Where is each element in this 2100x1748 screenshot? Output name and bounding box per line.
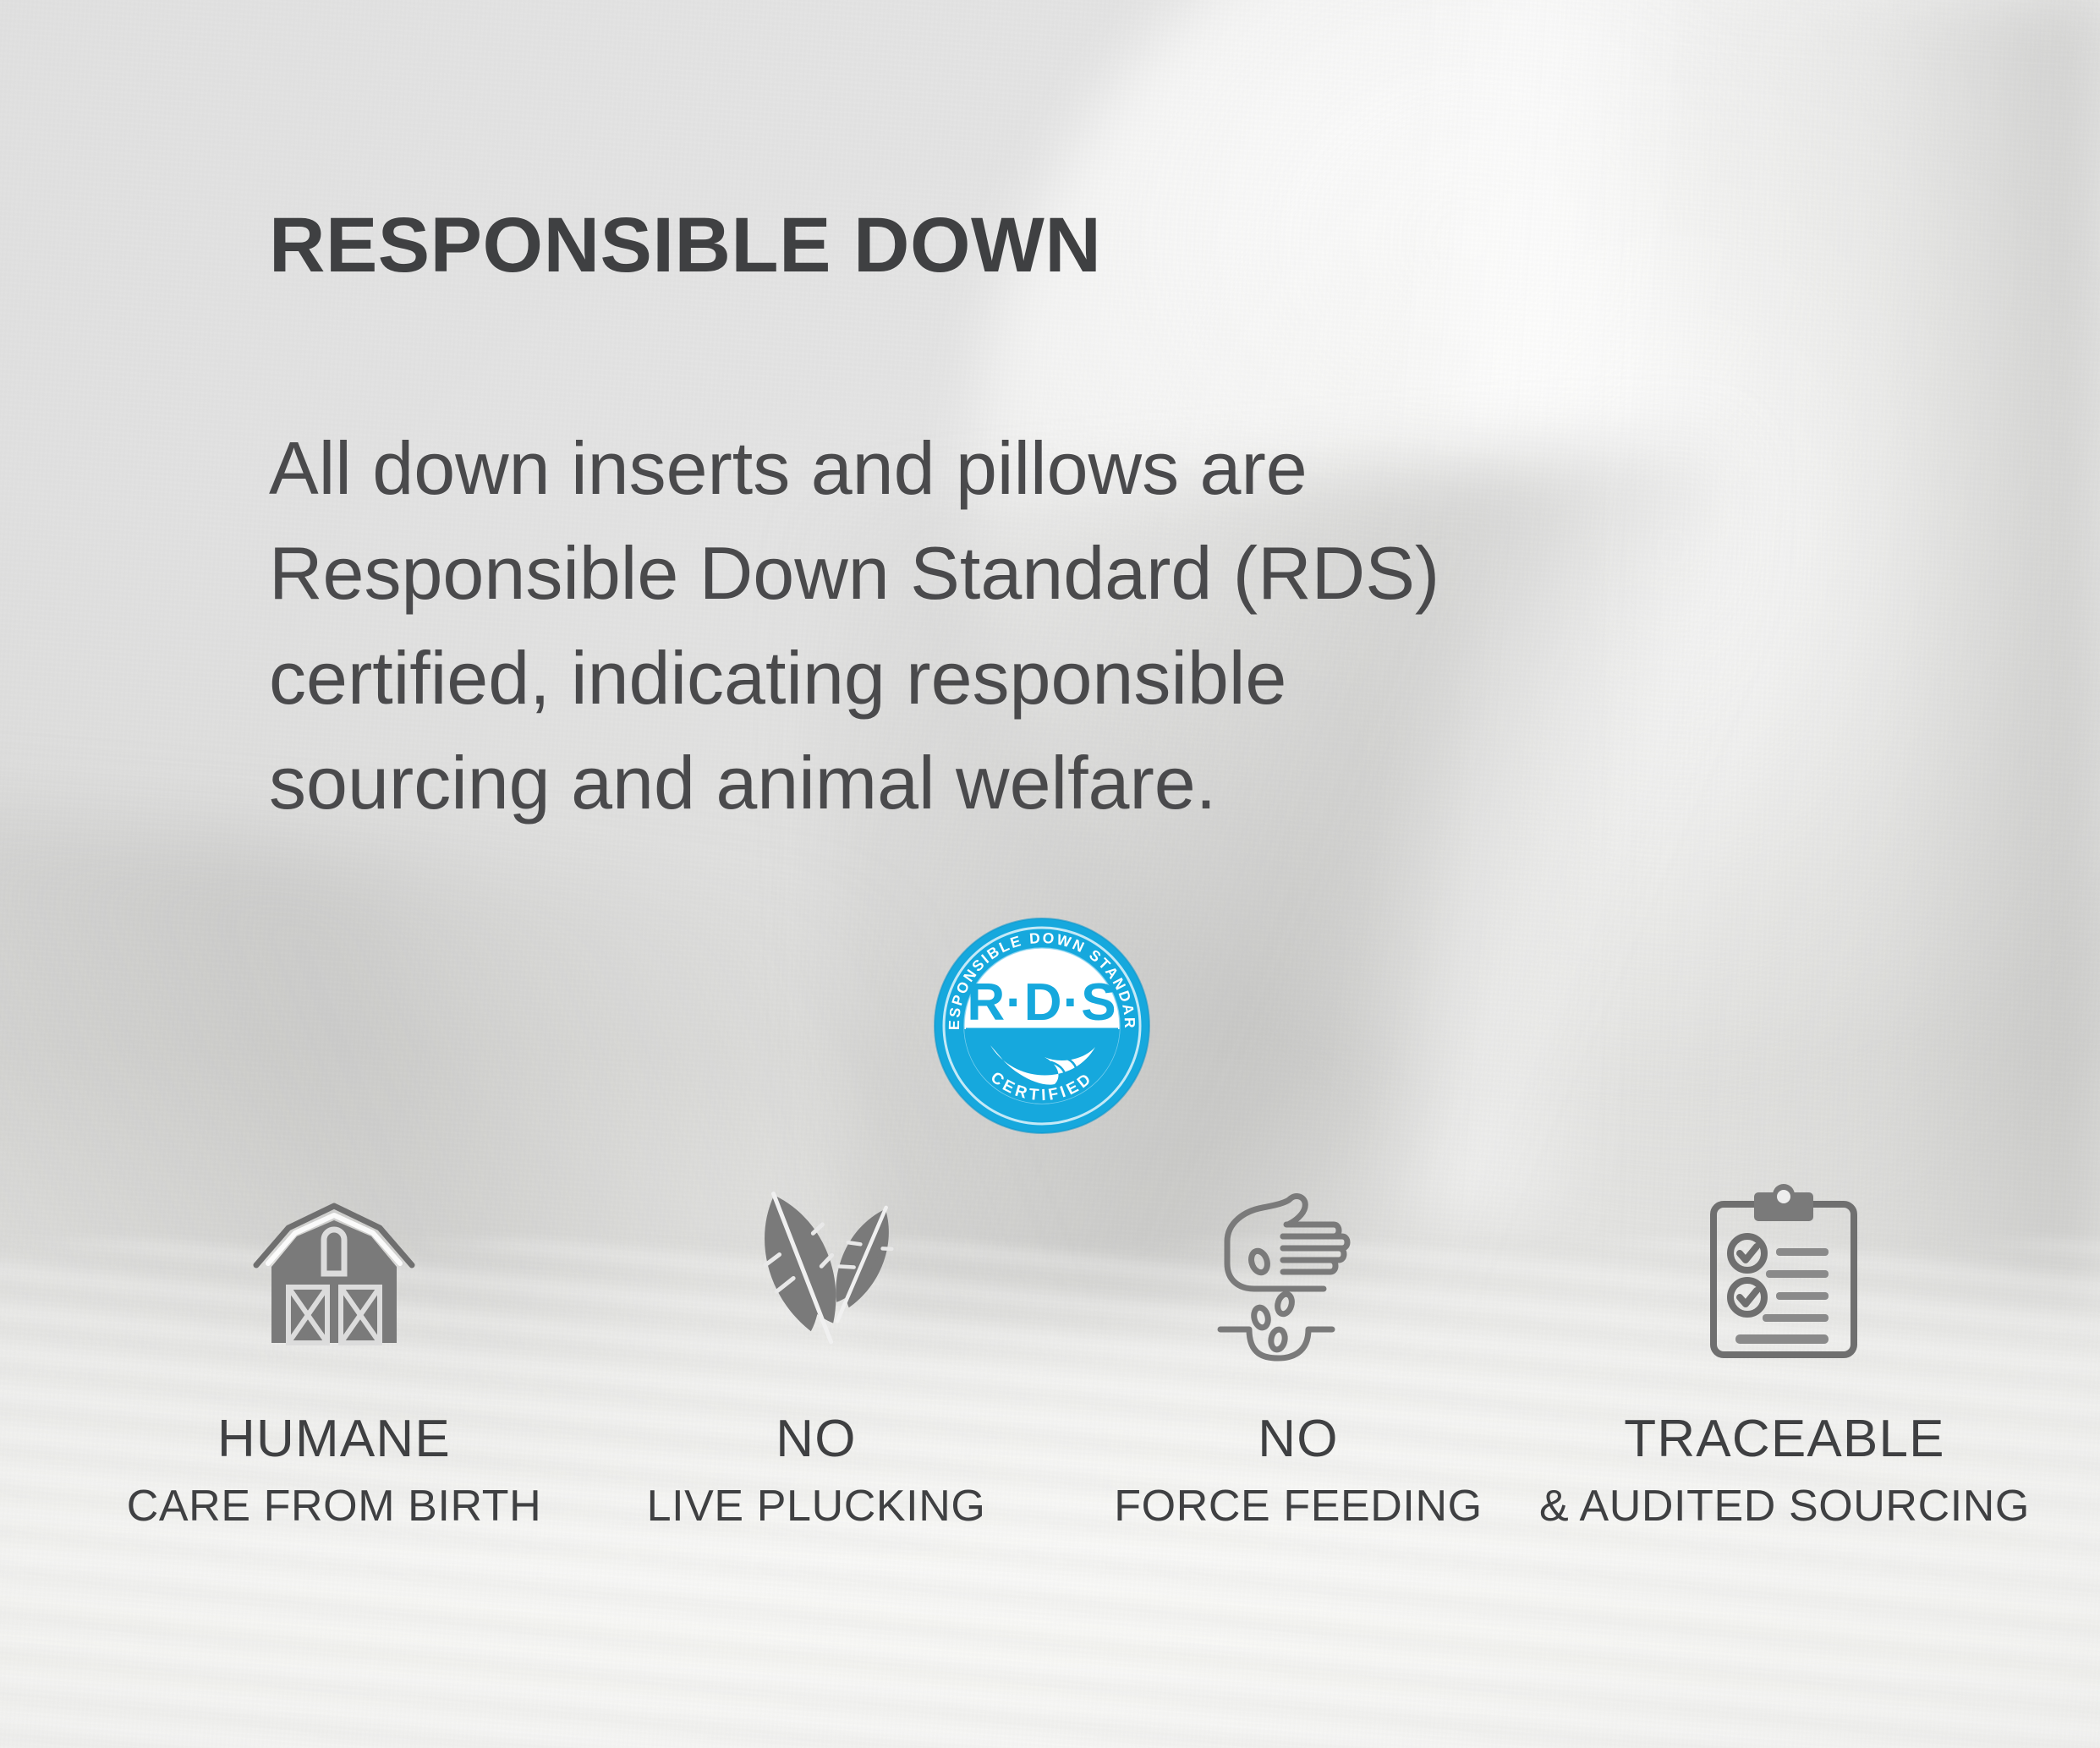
card-content: RESPONSIBLE DOWN All down inserts and pi…: [0, 0, 2100, 1748]
badge-center-text: R·D·S: [967, 973, 1116, 1032]
body-line-3: certified, indicating responsible: [269, 626, 1724, 731]
benefit-subline: CARE FROM BIRTH: [127, 1481, 542, 1532]
benefit-item-traceable: TRACEABLE & AUDITED SOURCING: [1539, 1167, 2030, 1532]
benefit-subline: LIVE PLUCKING: [647, 1481, 986, 1532]
benefit-headline: HUMANE: [217, 1409, 451, 1469]
page-title: RESPONSIBLE DOWN: [269, 201, 1101, 290]
clipboard-checklist-icon: [1702, 1167, 1867, 1378]
hand-feeding-icon: [1205, 1167, 1391, 1378]
benefits-row: HUMANE CARE FROM BIRTH: [93, 1167, 2030, 1532]
benefit-item-no-force-feeding: NO FORCE FEEDING: [1057, 1167, 1539, 1532]
benefit-subline: & AUDITED SOURCING: [1539, 1481, 2030, 1532]
benefit-headline: TRACEABLE: [1624, 1409, 1944, 1469]
body-copy: All down inserts and pillows are Respons…: [269, 416, 1724, 836]
barn-icon: [249, 1167, 419, 1378]
benefit-headline: NO: [776, 1409, 856, 1469]
benefit-item-no-live-plucking: NO LIVE PLUCKING: [575, 1167, 1057, 1532]
body-line-2: Responsible Down Standard (RDS): [269, 521, 1724, 626]
benefit-headline: NO: [1258, 1409, 1338, 1469]
responsible-down-card: RESPONSIBLE DOWN All down inserts and pi…: [0, 0, 2100, 1748]
body-line-4: sourcing and animal welfare.: [269, 731, 1724, 836]
benefit-subline: FORCE FEEDING: [1114, 1481, 1482, 1532]
body-line-1: All down inserts and pillows are: [269, 416, 1724, 521]
benefit-item-humane: HUMANE CARE FROM BIRTH: [93, 1167, 575, 1532]
feathers-icon: [719, 1167, 913, 1378]
rds-certified-badge: R·D·S RESPONSIBLE DOWN STANDARD CERTIFIE…: [933, 917, 1151, 1135]
